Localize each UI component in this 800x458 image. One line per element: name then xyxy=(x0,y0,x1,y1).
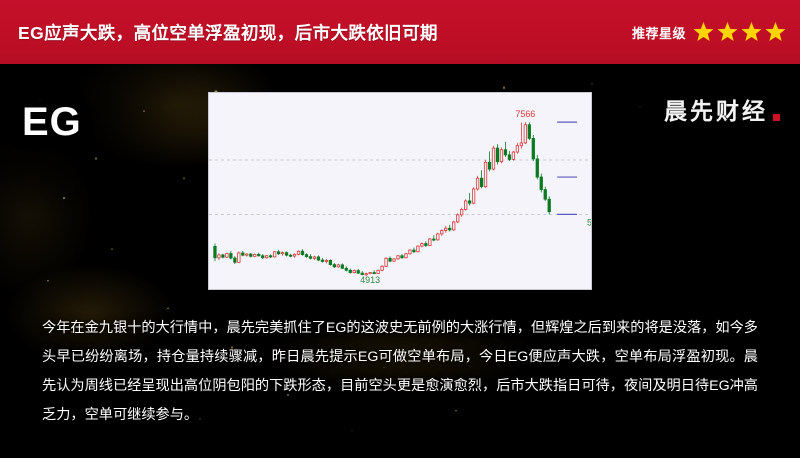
candle xyxy=(417,245,419,252)
candle xyxy=(429,238,431,246)
candle xyxy=(504,142,506,157)
candle xyxy=(234,256,236,264)
candle xyxy=(333,263,335,268)
candle xyxy=(238,252,240,264)
candle xyxy=(437,233,439,241)
candle xyxy=(405,253,407,258)
candle xyxy=(536,155,538,179)
candle xyxy=(289,254,291,257)
candle xyxy=(449,225,451,232)
candle xyxy=(222,254,224,259)
candle xyxy=(532,135,534,161)
candle xyxy=(389,256,391,262)
candle xyxy=(472,187,474,204)
candle xyxy=(265,255,267,259)
header-bar: EG应声大跌，高位空单浮盈初现，后市大跌依旧可期 推荐星级 xyxy=(0,0,800,64)
candle xyxy=(508,151,510,161)
brand-logo: 晨先财经 xyxy=(664,92,780,126)
candle xyxy=(357,269,359,274)
candle xyxy=(309,254,311,259)
candlestick-chart: 756659434913 xyxy=(209,93,591,289)
candle xyxy=(441,229,443,236)
candle xyxy=(528,122,530,140)
candle xyxy=(512,151,514,161)
candle xyxy=(397,255,399,260)
candle xyxy=(305,253,307,258)
candle xyxy=(393,258,395,262)
candlestick-chart-panel: 756659434913 xyxy=(208,92,592,290)
candle xyxy=(321,258,323,263)
candle xyxy=(520,122,522,148)
candle xyxy=(484,160,486,188)
candle xyxy=(445,226,447,233)
candle xyxy=(341,263,343,269)
candle xyxy=(381,265,383,271)
candle xyxy=(258,253,260,257)
ticker-watermark: EG xyxy=(22,100,82,145)
candle xyxy=(297,250,299,255)
brand-dot-icon xyxy=(773,114,780,121)
candle xyxy=(226,253,228,258)
candle xyxy=(261,254,263,259)
candle xyxy=(413,248,415,253)
candle xyxy=(313,256,315,260)
candle xyxy=(516,143,518,154)
candle xyxy=(464,199,466,210)
candle xyxy=(456,213,458,223)
candle xyxy=(230,251,232,260)
candle xyxy=(476,176,478,191)
candle xyxy=(385,257,387,267)
candle xyxy=(242,251,244,256)
candle xyxy=(317,255,319,261)
candle xyxy=(349,269,351,274)
star-rating xyxy=(693,22,786,43)
candle xyxy=(301,249,303,256)
candle xyxy=(421,242,423,247)
candle xyxy=(269,254,271,258)
candle xyxy=(524,122,526,144)
candle xyxy=(500,147,502,163)
candle xyxy=(433,235,435,241)
candle xyxy=(452,221,454,231)
rating-block: 推荐星级 xyxy=(632,22,786,43)
candle xyxy=(480,170,482,188)
candle xyxy=(250,253,252,258)
star-icon xyxy=(765,22,786,43)
chart-annotation: 5943 xyxy=(587,217,591,227)
candle xyxy=(277,250,279,255)
rating-label: 推荐星级 xyxy=(632,23,686,42)
candle xyxy=(218,253,220,260)
candle xyxy=(329,259,331,265)
candle xyxy=(492,146,494,170)
candle xyxy=(254,253,256,257)
brand-name: 晨先财经 xyxy=(664,92,768,126)
candle xyxy=(548,196,550,214)
chart-annotation: 7566 xyxy=(515,109,535,119)
page-title: EG应声大跌，高位空单浮盈初现，后市大跌依旧可期 xyxy=(18,20,438,45)
candle xyxy=(425,241,427,247)
article-paragraph: 今年在金九银十的大行情中，晨先完美抓住了EG的这波史无前例的大涨行情，但辉煌之后… xyxy=(42,314,758,430)
candle xyxy=(281,252,283,256)
candle xyxy=(540,174,542,193)
candle xyxy=(409,249,411,254)
candle xyxy=(325,259,327,264)
candle xyxy=(273,251,275,258)
candle xyxy=(377,269,379,274)
candle xyxy=(345,266,347,271)
star-icon xyxy=(741,22,762,43)
candle xyxy=(496,144,498,164)
article-body: 今年在金九银十的大行情中，晨先完美抓住了EG的这波史无前例的大涨行情，但辉煌之后… xyxy=(42,314,758,430)
candle xyxy=(488,151,490,171)
chart-annotation: 4913 xyxy=(360,275,380,285)
candle xyxy=(353,269,355,273)
poster-root: EG应声大跌，高位空单浮盈初现，后市大跌依旧可期 推荐星级 EG 晨先财经 75… xyxy=(0,0,800,458)
candle xyxy=(293,253,295,258)
candle xyxy=(401,254,403,259)
candle xyxy=(337,264,339,268)
candle xyxy=(246,253,248,256)
candle xyxy=(460,208,462,217)
star-icon xyxy=(717,22,738,43)
candle xyxy=(285,252,287,257)
star-icon xyxy=(693,22,714,43)
candle xyxy=(369,272,371,273)
candle xyxy=(214,244,216,262)
candle xyxy=(544,187,546,201)
candle xyxy=(373,270,375,274)
candle xyxy=(468,193,470,206)
